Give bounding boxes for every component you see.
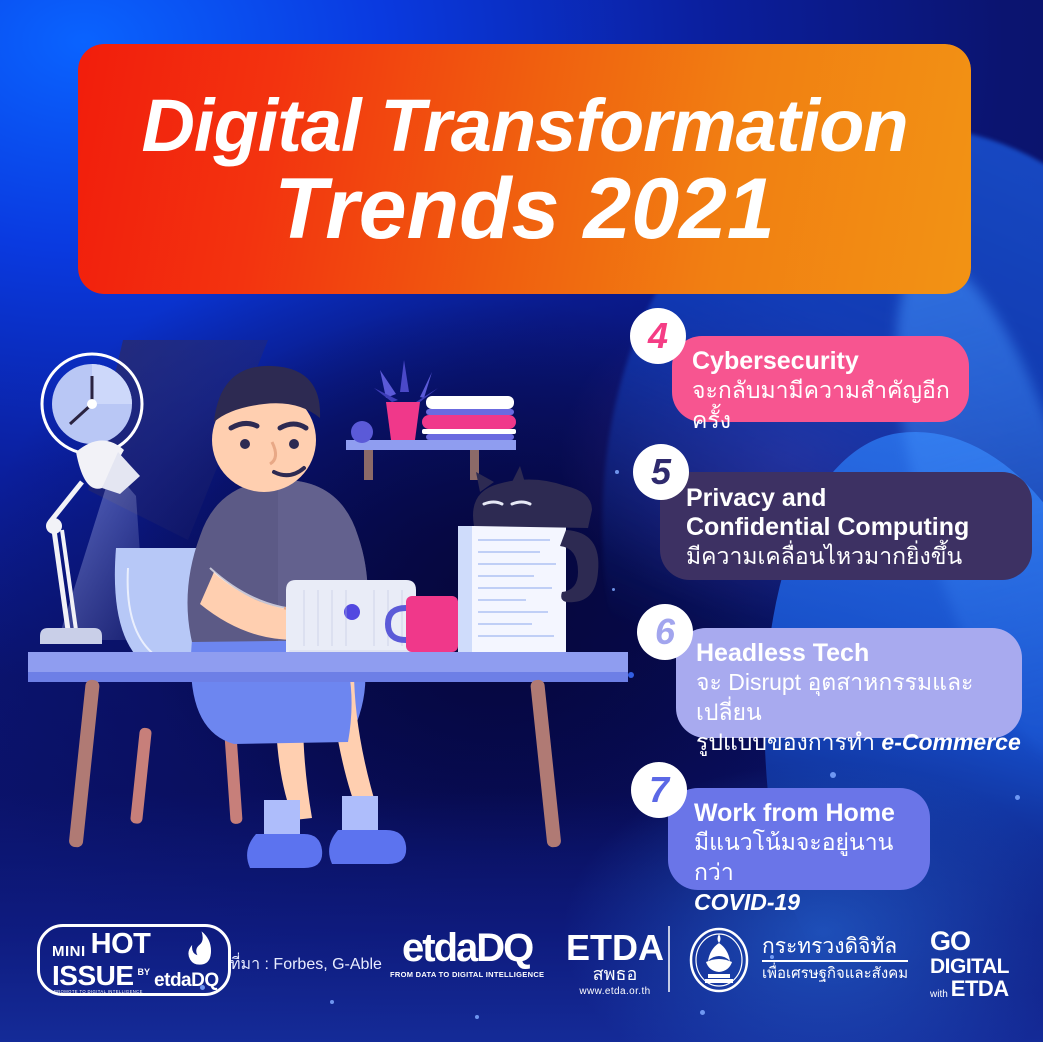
desk [28,652,628,848]
trend-badge-5: 5 [633,444,689,500]
trend-card-privacy[interactable]: Privacy and Confidential Computing มีควา… [660,472,1032,580]
trend-desc-6b-emphasis: e-Commerce [881,729,1020,755]
mini-label: MINI [52,944,86,959]
trend-card-work-from-home[interactable]: Work from Home มีแนวโน้มจะอยู่นานกว่า CO… [668,788,930,890]
trend-title-6: Headless Tech [696,639,1022,668]
work-from-home-illustration [28,340,628,920]
digital-label: DIGITAL [930,956,1009,977]
star-dot [1015,795,1020,800]
trend-desc-6a: จะ Disrupt อุตสาหกรรมและเปลี่ยน [696,668,1022,728]
trend-desc-4: จะกลับมามีความสำคัญอีกครั้ง [692,376,969,436]
title-line-2: Trends 2021 [274,166,774,252]
paper-stack [458,526,566,652]
trend-title-4: Cybersecurity [692,347,969,376]
hot-label: HOT [91,930,151,959]
trend-desc-6b: รูปแบบของการทำ e-Commerce [696,728,1022,758]
ministry-logo[interactable]: กระทรวงดิจิทัล เพื่อเศรษฐกิจและสังคม [686,924,908,994]
wall-clock-icon [42,354,142,454]
title-line-1: Digital Transformation [141,90,907,163]
mini-hot-issue-row-2: ISSUE BY etdaDQ [52,962,219,990]
trend-desc-7b-emphasis: COVID-19 [694,889,800,915]
royal-seal-icon [686,924,752,994]
etda-url: www.etda.or.th [566,986,664,997]
go-digital-logo[interactable]: GO DIGITAL with ETDA [930,928,1009,1000]
by-label: BY [138,968,151,977]
trend-desc-5: มีความเคลื่อนไหวมากยิ่งขึ้น [686,542,1032,572]
star-dot [628,672,634,678]
source-text: ที่มา : Forbes, G-Able [230,952,382,977]
trend-badge-7: 7 [631,762,687,818]
mini-hot-issue-microtag: PROMOTE TO DIGITAL INTELLIGENCE [54,989,143,994]
wall-shelf [346,360,516,480]
flame-icon [188,931,213,965]
go-digital-etda-label: ETDA [951,978,1009,1000]
trend-title-7: Work from Home [694,799,930,828]
with-label: with [930,990,948,1000]
ministry-line-1: กระทรวงดิจิทัล [762,935,908,962]
trend-desc-7a: มีแนวโน้มจะอยู่นานกว่า [694,828,930,888]
ministry-text: กระทรวงดิจิทัล เพื่อเศรษฐกิจและสังคม [762,935,908,983]
book-stack-icon [422,396,516,440]
footer-divider [668,926,670,992]
go-digital-row: with ETDA [930,978,1009,1000]
trend-badge-4: 4 [630,308,686,364]
trend-title-5b: Confidential Computing [686,513,1032,542]
etdadq-mark: etdaDQ [390,928,544,968]
trend-card-cybersecurity[interactable]: Cybersecurity จะกลับมามีความสำคัญอีกครั้… [672,336,969,422]
trend-desc-6b-text: รูปแบบของการทำ [696,729,881,755]
issue-label: ISSUE [52,962,134,990]
etda-logo[interactable]: ETDA สพธอ www.etda.or.th [566,930,664,997]
trend-title-5a: Privacy and [686,484,1032,513]
mini-hot-issue-badge[interactable]: MINI HOT ISSUE BY etdaDQ PROMOTE TO DIGI… [37,924,231,996]
etdadq-tagline: FROM DATA TO DIGITAL INTELLIGENCE [390,970,544,979]
etda-mark: ETDA [566,930,664,966]
go-label: GO [930,928,1009,955]
infographic-canvas: Digital Transformation Trends 2021 4 Cyb… [0,0,1043,1042]
etdadq-small-label: etdaDQ [154,971,219,990]
trend-badge-6: 6 [637,604,693,660]
trend-card-headless-tech[interactable]: Headless Tech จะ Disrupt อุตสาหกรรมและเป… [676,628,1022,738]
star-dot [830,772,836,778]
ministry-line-2: เพื่อเศรษฐกิจและสังคม [762,965,908,983]
footer: MINI HOT ISSUE BY etdaDQ PROMOTE TO DIGI… [0,912,1043,1042]
etdadq-logo[interactable]: etdaDQ FROM DATA TO DIGITAL INTELLIGENCE [390,928,544,979]
title-banner: Digital Transformation Trends 2021 [78,44,971,294]
title-banner-text: Digital Transformation Trends 2021 [78,44,971,294]
